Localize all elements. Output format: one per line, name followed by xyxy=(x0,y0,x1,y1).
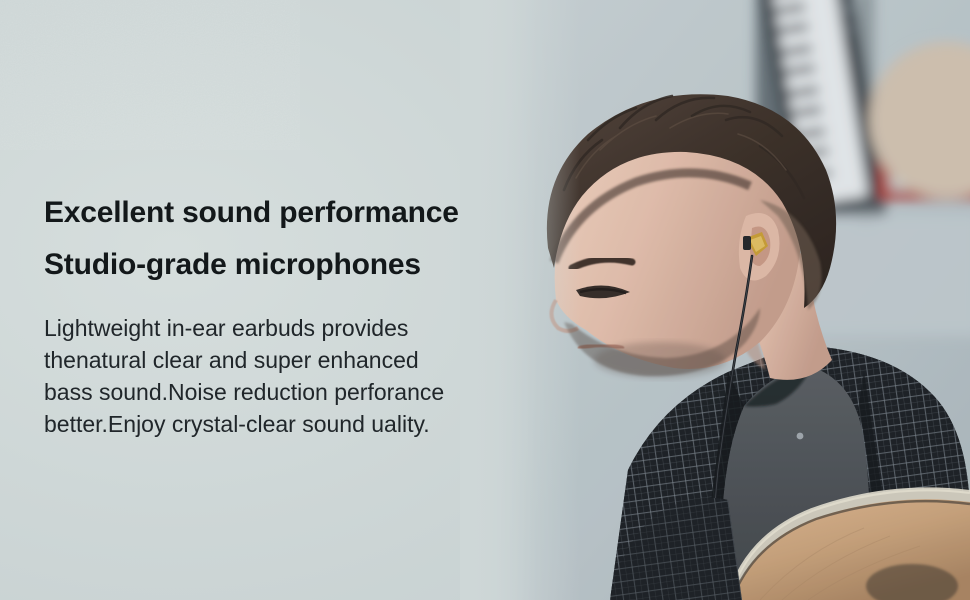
body-copy-line: bass sound.Noise reduction perforance xyxy=(44,376,514,408)
body-copy-line: better.Enjoy crystal-clear sound uality. xyxy=(44,408,514,440)
body-copy-line: Lightweight in-ear earbuds provides xyxy=(44,312,514,344)
body-copy-line: thenatural clear and super enhanced xyxy=(44,344,514,376)
lifestyle-photo xyxy=(460,0,970,600)
product-banner: Excellent sound performance Studio-grade… xyxy=(0,0,970,600)
copy-block: Excellent sound performance Studio-grade… xyxy=(44,0,524,600)
headline-line-1: Excellent sound performance xyxy=(44,198,524,228)
body-copy: Lightweight in-ear earbuds provides then… xyxy=(44,312,514,440)
headline-line-2: Studio-grade microphones xyxy=(44,250,524,280)
photo-illustration xyxy=(460,0,970,600)
